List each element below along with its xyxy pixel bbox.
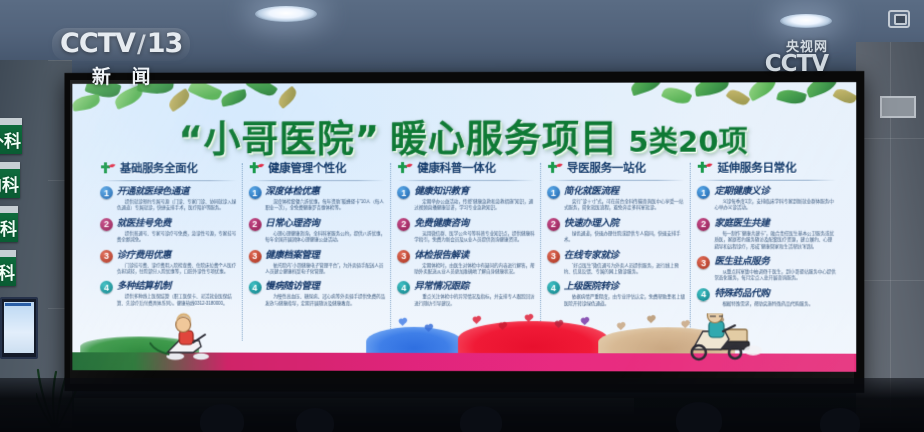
service-item: 4 慢病随访管理 为慢性高血压、糖尿病、冠心病等外卖骑手提供免费药品发放与健康指… [248, 280, 385, 307]
banner-title-quoted: “小哥医院” [179, 109, 380, 163]
item-desc: 每一制作“健康共建卡”，融合责任医生基本公卫服务或优质医，家庭签约服务随访及配套… [714, 231, 836, 250]
health-service-banner: “小哥医院” 暖心服务项目 5类20项 基础服务全面化 [72, 82, 856, 372]
item-title: 诊疗费用优惠 [117, 249, 237, 262]
service-column-2: 健康管理个性化 1 深度体检优惠 深度体检套餐六折优惠，每年资助“暖蜂驿卡”10… [242, 159, 391, 335]
screenshot-root: 外科 内科 儿科 妇科 [0, 0, 924, 432]
logo-slash: / [135, 30, 147, 58]
item-desc: 根据特殊需求，帮助实施特殊药品代购服务。 [714, 301, 813, 308]
dept-sign-label: 妇科 [0, 259, 16, 284]
item-number: 2 [248, 218, 261, 231]
dept-sign-3: 儿科 [0, 206, 18, 242]
channel-name: 新 闻 [85, 62, 158, 89]
service-item: 3 体检报告解读 定期体检时，由医生对体检中有疑问的内容进行解答，帮助外卖配送从… [397, 249, 535, 276]
dept-sign-label: 儿科 [0, 215, 18, 240]
column-header: 健康科普一体化 [397, 159, 535, 177]
service-item: 2 免费健康咨询 运用微信群、医学公众号等科普专业知识点，提供健康科学指引，免费… [397, 217, 535, 244]
column-header-label: 健康科普一体化 [417, 160, 495, 176]
item-title: 特殊药品代购 [714, 287, 813, 300]
item-title: 开通就医绿色通道 [117, 185, 237, 198]
service-item: 2 快速办理入院 绿色通道，快速办理住院或提供专人陪同，快速安排手术。 [547, 217, 685, 244]
column-header: 基础服务全面化 [100, 159, 236, 177]
item-desc: 深度体检套餐六折优惠，每年资助“暖蜂驿卡”10人（每人职业一次），全免费健康罗百… [265, 199, 385, 212]
item-number: 3 [547, 250, 560, 263]
medical-cross-icon [397, 161, 413, 175]
item-number: 2 [397, 218, 410, 231]
service-item: 3 在线专家就诊 “好点医生”微信通号为外卖人员提供服务，进行线上预约、信息反馈… [547, 249, 685, 276]
item-desc: 门诊挂号费、诊疗费用入院检查费、住院床位费个人医疗负担减轻，住院部分入院优惠等，… [117, 262, 237, 275]
display-panel: “小哥医院” 暖心服务项目 5类20项 基础服务全面化 [64, 71, 864, 393]
wall-monitor [0, 297, 38, 359]
service-item: 4 特殊药品代购 根据特殊需求，帮助实施特殊药品代购服务。 [697, 287, 836, 308]
service-item: 1 开通就医绿色通道 提供就诊预约专属号源（门诊、专家门诊、协同就诊入绿色通道）… [100, 185, 236, 212]
item-title: 医生驻点服务 [714, 255, 836, 268]
item-title: 健康知识教育 [414, 185, 535, 198]
column-header: 延伸服务日常化 [697, 159, 836, 177]
item-number: 3 [248, 250, 261, 263]
item-desc: 定期体检时，由医生对体检中有疑问的内容进行解答，帮助外卖配送从业人员更加准确地了… [414, 263, 535, 276]
service-item: 3 健康档案管理 依托院内“小哥健康电子管理平台”，为外卖骑手配送人员人员建立健… [248, 249, 385, 276]
medical-cross-icon [248, 161, 264, 175]
item-desc: 提供就诊预约专属号源（门诊、专家门诊、协同就诊入绿色通道）专属就诊，快捷安排手术… [117, 199, 237, 212]
item-desc: 依托院内“小哥健康电子管理平台”，为外卖骑手配送人员人员建立健康档案电子化管理。 [265, 263, 385, 276]
item-title: 上级医院转诊 [564, 281, 685, 294]
item-title: 定期健康义诊 [714, 185, 836, 198]
display-screen: “小哥医院” 暖心服务项目 5类20项 基础服务全面化 [72, 82, 856, 372]
banner-illustration [72, 313, 856, 372]
item-title: 简化就医流程 [564, 185, 685, 198]
service-item: 4 多种结算机制 提供多种线上医保结算（职工医保卡、灵活就业医保结算、先诊疗后付… [100, 280, 236, 307]
item-number: 2 [547, 218, 560, 231]
item-number: 3 [697, 256, 710, 269]
item-number: 4 [697, 288, 710, 301]
service-column-1: 基础服务全面化 1 开通就医绿色通道 提供就诊预约专属号源（门诊、专家门诊、协同… [94, 159, 242, 334]
service-item: 2 日常心理咨询 心理心理健康咨询，全科科室服务公约，提供八折优惠，每年全国开展… [248, 217, 385, 244]
item-title: 日常心理咨询 [265, 217, 385, 230]
service-columns: 基础服务全面化 1 开通就医绿色通道 提供就诊预约专属号源（门诊、专家门诊、协同… [94, 159, 842, 336]
audience-foreground [0, 378, 924, 432]
item-number: 4 [248, 281, 261, 294]
service-item: 2 就医挂号免费 提供普通号、专家号诊疗号免费，急诊性号源，专家挂号费全额减免。 [100, 217, 236, 244]
item-desc: 义诊每季度1次，安排临床学科专家到新就业群体服务中心举办义诊活动。 [714, 199, 836, 212]
item-title: 体检报告解读 [414, 249, 535, 262]
divider [248, 180, 385, 181]
item-desc: 重点关注体检中的异常情况及指标，并安排专人跟踪回访进行随访引导建议。 [414, 294, 535, 307]
banner-title-rest: 暖心服务项目 [390, 109, 618, 163]
item-number: 1 [697, 186, 710, 199]
channel-logo: CCTV / 13 新 闻 [52, 28, 190, 89]
item-desc: “好点医生”微信通号为外卖人员提供服务，进行线上预约、信息反馈、专属的网上随诊服… [564, 263, 685, 276]
medical-cross-icon [100, 161, 116, 175]
column-header: 健康管理个性化 [248, 159, 385, 177]
ceiling-light [255, 6, 317, 22]
cctv-13-badge: CCTV / 13 [52, 28, 190, 61]
service-column-4: 导医服务一站化 1 简化就医流程 实行“诊＋寸”式，可在前台全科传输咨询医中心享… [541, 159, 691, 336]
service-item: 4 异常情况跟踪 重点关注体检中的异常情况及指标，并安排专人跟踪回访进行随访引导… [397, 280, 535, 307]
service-column-5: 延伸服务日常化 1 定期健康义诊 义诊每季度1次，安排临床学科专家到新就业群体服… [691, 159, 842, 336]
watermark-domain-label: CCTV [765, 51, 828, 77]
service-item: 1 健康知识教育 定期举办公益活动，传授“健康急救和急救措施”知识，通过视频直播… [397, 185, 535, 212]
item-number: 1 [397, 186, 410, 199]
service-item: 1 简化就医流程 实行“诊＋寸”式，可在前台全科传输咨询医中心享受一站式服务，简… [547, 185, 685, 212]
divider [697, 180, 836, 181]
item-number: 3 [397, 250, 410, 263]
banner-title: “小哥医院” 暖心服务项目 5类20项 [72, 108, 856, 163]
service-item: 4 上级医院转诊 依据病情严重程度，由专业评估认定，免费帮助患者上级医院开转诊绿… [547, 280, 685, 307]
cctv-wordmark: CCTV [60, 28, 135, 59]
medical-cross-icon [697, 161, 713, 175]
item-desc: 运用微信群、医学公众号等科普专业知识点，提供健康科学指引，免费为新会员及从业人员… [414, 231, 535, 244]
item-desc: 提供多种线上医保结算（职工医保卡、灵活就业医保结算、先诊疗后付费具体系列）。健康… [117, 294, 237, 307]
item-title: 健康档案管理 [265, 249, 385, 262]
delivery-rider-with-boxes-icon [675, 313, 772, 362]
item-number: 1 [100, 186, 113, 199]
item-title: 多种结算机制 [117, 280, 237, 293]
service-item: 3 诊疗费用优惠 门诊挂号费、诊疗费用入院检查费、住院床位费个人医疗负担减轻，住… [100, 249, 236, 276]
item-title: 就医挂号免费 [117, 217, 237, 230]
item-title: 免费健康咨询 [414, 217, 535, 230]
divider [547, 180, 685, 181]
dept-sign-label: 外科 [0, 127, 22, 152]
service-item: 2 家庭医生共建 每一制作“健康共建卡”，融合责任医生基本公卫服务或优质医，家庭… [697, 217, 836, 250]
item-desc: 依据病情严重程度，由专业评估认定，免费帮助患者上级医院开转诊绿色通道。 [564, 295, 685, 308]
dept-sign-2: 内科 [0, 162, 20, 198]
divider [100, 180, 236, 181]
service-item: 1 定期健康义诊 义诊每季度1次，安排临床学科专家到新就业群体服务中心举办义诊活… [697, 185, 836, 212]
item-number: 1 [547, 186, 560, 199]
item-number: 2 [697, 218, 710, 231]
item-title: 异常情况跟踪 [414, 280, 535, 293]
item-number: 2 [100, 218, 113, 231]
service-column-3: 健康科普一体化 1 健康知识教育 定期举办公益活动，传授“健康急救和急救措施”知… [391, 159, 541, 335]
item-desc: 心理心理健康咨询，全科科室服务公约，提供八折优惠，每年全国开展团体心理健康公益活… [265, 231, 385, 244]
item-title: 深度体检优惠 [265, 185, 385, 198]
red-heart-heap [458, 321, 608, 357]
divider [397, 180, 535, 181]
item-desc: 定期举办公益活动，传授“健康急救和急救措施”知识，通过视频直播健康宣讲，学习专业… [414, 199, 535, 212]
item-desc: 为慢性高血压、糖尿病、冠心病等外卖骑手提供免费药品发放与健康指导，定期开展随访及… [265, 294, 385, 307]
item-desc: 实行“诊＋寸”式，可在前台全科传输咨询医中心享受一站式服务，简化就医流程，避免奔… [564, 199, 685, 212]
item-number: 4 [100, 281, 113, 294]
item-desc: 提供普通号、专家号诊疗号免费，急诊性号源，专家挂号费全额减免。 [117, 231, 237, 244]
item-title: 快速办理入院 [564, 217, 685, 230]
item-number: 1 [248, 186, 261, 199]
dept-sign-4: 妇科 [0, 250, 16, 286]
dept-sign-1: 外科 [0, 118, 22, 154]
item-desc: 绿色通道，快速办理住院或提供专人陪同，快速安排手术。 [564, 231, 685, 244]
picture-in-picture-icon[interactable] [888, 10, 910, 28]
item-desc: 从重点科室集中抽调骨干医生，到小哥驿站服务中心提供常态化服务，每月定点入驻开展咨… [714, 269, 836, 282]
cctv-com-watermark: 央视网 CCTV [765, 36, 828, 77]
channel-number: 13 [147, 28, 183, 59]
dept-sign-label: 内科 [0, 171, 20, 196]
column-header: 导医服务一站化 [547, 159, 685, 177]
item-title: 慢病随访管理 [265, 280, 385, 293]
wall-frame [880, 96, 916, 118]
item-number: 4 [397, 281, 410, 294]
service-item: 3 医生驻点服务 从重点科室集中抽调骨干医生，到小哥驿站服务中心提供常态化服务，… [697, 255, 836, 282]
delivery-rider-scooter-icon [150, 313, 221, 363]
column-header-label: 基础服务全面化 [120, 160, 198, 176]
column-header-label: 导医服务一站化 [567, 160, 646, 176]
item-number: 4 [547, 282, 560, 295]
banner-title-count: 5类20项 [628, 119, 747, 161]
service-item: 1 深度体检优惠 深度体检套餐六折优惠，每年资助“暖蜂驿卡”10人（每人职业一次… [248, 185, 385, 212]
item-title: 在线专家就诊 [564, 249, 685, 262]
column-header-label: 延伸服务日常化 [717, 160, 796, 176]
ceiling-light [780, 14, 832, 28]
medical-cross-icon [547, 161, 563, 175]
item-title: 家庭医生共建 [714, 217, 836, 230]
column-header-label: 健康管理个性化 [268, 160, 346, 176]
item-number: 3 [100, 250, 113, 263]
